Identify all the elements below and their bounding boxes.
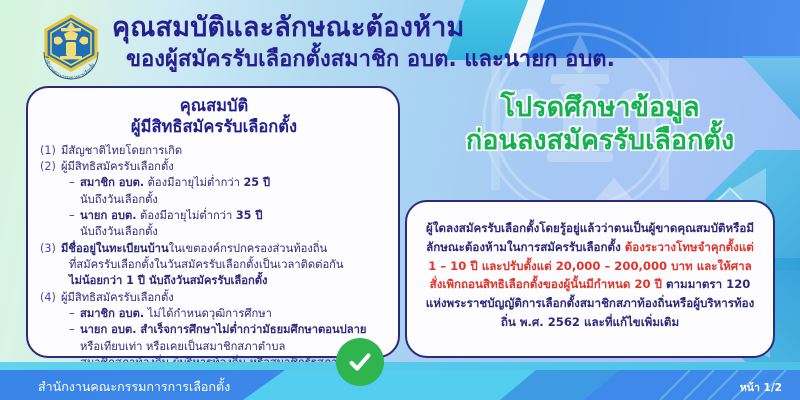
item-text: ผู้มีสิทธิสมัครรับเลือกตั้ง [61, 159, 388, 175]
dash-marker: – [69, 322, 80, 338]
sub-item-bold: นายก อบต. [80, 209, 137, 222]
page-title-line1: คุณสมบัติและลักษณะต้องห้าม [112, 12, 672, 44]
sub-item-bold: สมาชิก อบต. [80, 176, 144, 189]
sub-item-rest: ต้องมีอายุไม่ต่ำกว่า [144, 176, 243, 189]
item-number: (4) [40, 290, 61, 306]
sub-item-bold: นายก อบต. สำเร็จการศึกษาไม่ต่ำกว่ามัธยมศ… [80, 323, 366, 336]
item-text: ผู้มีสิทธิสมัครรับเลือกตั้ง [61, 290, 388, 306]
sub-item-continuation: นับถึงวันเลือกตั้ง [80, 224, 388, 240]
item-text-rest: ในเขตองค์กรปกครองส่วนท้องถิ่น [169, 242, 328, 255]
list-item: (1) มีสัญชาติไทยโดยการเกิด [40, 143, 388, 159]
penalty-segment-1: ผู้ใดลงสมัครรับเลือกตั้งโดยรู้อยู่แล้วว่… [426, 221, 726, 235]
sub-item: – สมาชิก อบต. ไม่ได้กำหนดวุฒิการศึกษา [69, 306, 388, 322]
footer-organization: สำนักงานคณะกรรมการการเลือกตั้ง [38, 377, 230, 397]
sub-item-continuation: นับถึงวันเลือกตั้ง [80, 192, 388, 208]
sub-item: – นายก อบต. ต้องมีอายุไม่ต่ำกว่า 35 ปี [69, 208, 388, 224]
callout-heading: โปรดศึกษาข้อมูล ก่อนลงสมัครรับเลือกตั้ง [400, 92, 800, 158]
callout-line1: โปรดศึกษาข้อมูล [400, 92, 800, 125]
footer-page-number: หน้า 1/2 [740, 379, 782, 396]
callout-line2: ก่อนลงสมัครรับเลือกตั้ง [400, 125, 800, 158]
check-circle-icon [336, 338, 384, 386]
page-title-line2: ของผู้สมัครรับเลือกตั้งสมาชิก อบต. และนา… [126, 46, 672, 74]
header-titles: คุณสมบัติและลักษณะต้องห้าม ของผู้สมัครรั… [112, 12, 672, 73]
sub-item: – นายก อบต. สำเร็จการศึกษาไม่ต่ำกว่ามัธย… [69, 322, 388, 338]
header: สำนักงานคณะกรรมการการเลือกตั้ง คุณสมบัติ… [0, 4, 800, 84]
sub-item-rest: ต้องมีอายุไม่ต่ำกว่า [137, 209, 236, 222]
qualifications-heading-line1: คุณสมบัติ [180, 96, 248, 115]
item-line3: ไม่น้อยกว่า 1 ปี นับถึงวันสมัครรับเลือกต… [69, 273, 388, 289]
sub-item-text: นายก อบต. ต้องมีอายุไม่ต่ำกว่า 35 ปี [80, 208, 262, 224]
dash-marker: – [69, 306, 80, 322]
list-item: (3) มีชื่ออยู่ในทะเบียนบ้านในเขตองค์กรปก… [40, 241, 388, 257]
sub-item-text: นายก อบต. สำเร็จการศึกษาไม่ต่ำกว่ามัธยมศ… [80, 322, 366, 338]
dash-marker: – [69, 208, 80, 224]
sub-item-text: สมาชิก อบต. ไม่ได้กำหนดวุฒิการศึกษา [80, 306, 272, 322]
footer-cyan-shape [243, 370, 543, 400]
item-text: มีชื่ออยู่ในทะเบียนบ้านในเขตองค์กรปกครอง… [61, 241, 388, 257]
qualifications-heading: คุณสมบัติ ผู้มีสิทธิสมัครรับเลือกตั้ง [40, 96, 388, 138]
item-number: (1) [40, 143, 61, 159]
sub-item-rest: ไม่ได้กำหนดวุฒิการศึกษา [144, 307, 272, 320]
penalty-text: ผู้ใดลงสมัครรับเลือกตั้งโดยรู้อยู่แล้วว่… [423, 219, 757, 332]
qualifications-heading-line2: ผู้มีสิทธิสมัครรับเลือกตั้ง [131, 117, 297, 136]
item-number: (2) [40, 159, 61, 175]
ect-emblem-seal-icon: สำนักงานคณะกรรมการการเลือกตั้ง [36, 12, 106, 82]
sub-item-text: สมาชิก อบต. ต้องมีอายุไม่ต่ำกว่า 25 ปี [80, 175, 270, 191]
list-item: (2) ผู้มีสิทธิสมัครรับเลือกตั้ง [40, 159, 388, 175]
footer-accent-line [0, 362, 800, 370]
infographic-root: คณะกรรมการการเลือกตั้ง [0, 0, 800, 400]
item-text: มีสัญชาติไทยโดยการเกิด [61, 143, 388, 159]
sub-item: – สมาชิก อบต. ต้องมีอายุไม่ต่ำกว่า 25 ปี [69, 175, 388, 191]
qualifications-list: (1) มีสัญชาติไทยโดยการเกิด (2) ผู้มีสิทธ… [40, 143, 388, 372]
qualifications-card: คุณสมบัติ ผู้มีสิทธิสมัครรับเลือกตั้ง (1… [26, 86, 400, 358]
sub-item-bold2: 35 ปี [236, 209, 263, 222]
list-item: (4) ผู้มีสิทธิสมัครรับเลือกตั้ง [40, 290, 388, 306]
footer: สำนักงานคณะกรรมการการเลือกตั้ง หน้า 1/2 [0, 370, 800, 400]
dash-marker: – [69, 175, 80, 191]
item-number: (3) [40, 241, 61, 257]
item-line2: ที่สมัครรับเลือกตั้งในวันสมัครรับเลือกตั… [69, 257, 388, 273]
item-bold-lead: มีชื่ออยู่ในทะเบียนบ้าน [61, 242, 169, 255]
penalty-card: ผู้ใดลงสมัครรับเลือกตั้งโดยรู้อยู่แล้วว่… [405, 200, 775, 358]
sub-item-bold: สมาชิก อบต. [80, 307, 144, 320]
sub-item-bold2: 25 ปี [243, 176, 270, 189]
